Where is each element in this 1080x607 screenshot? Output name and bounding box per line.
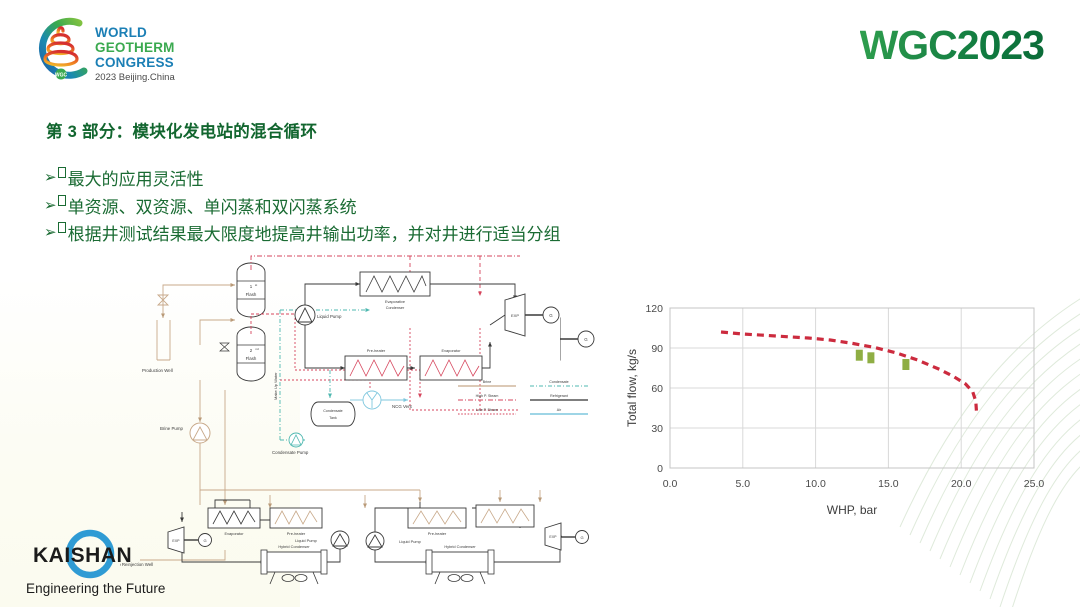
flash2-label-b: Flash [246, 356, 257, 361]
chart-marker [902, 359, 909, 370]
list-item-label: 单资源、双资源、单闪蒸和双闪蒸系统 [68, 194, 357, 222]
bullet-arrow-icon: ➢ [44, 221, 57, 245]
wgc-logo-badge-text: WGC [55, 73, 68, 79]
diagram-label-preheater-3: Pre-heater [428, 531, 447, 536]
process-flow-diagram: Production Well 1 st Flash 2 nd Flash Br… [120, 250, 600, 585]
evaporative-condenser: Evaporative Condenser [360, 272, 430, 310]
chart-line-deliverability-curve [721, 332, 977, 412]
chart-y-tick: 0 [657, 463, 663, 475]
list-item-label: 最大的应用灵活性 [68, 166, 204, 194]
diagram-label-liquid-pump-3: Liquid Pump [399, 539, 421, 544]
diagram-label-ncg-vent: NCG Vent [392, 404, 413, 409]
diagram-label-gen-4: G [203, 538, 206, 543]
pre-heater-bottom-right: Pre-heater [408, 508, 466, 536]
flash-vessel-2: 2 nd Flash [237, 327, 265, 381]
flash1-label-sup: st [255, 283, 258, 287]
valve-icon-2 [220, 343, 229, 351]
chart-x-tick: 15.0 [878, 478, 899, 490]
flash2-label-sup: nd [255, 347, 259, 351]
kaishan-wordmark: KAISHAN [33, 544, 132, 568]
evaporator-bottom-left: Evaporator [208, 508, 260, 536]
legend-label-air: Air [557, 408, 562, 412]
diagram-label-liquid-pump-1: Liquid Pump [317, 314, 342, 319]
chart-y-axis-title: Total flow, kg/s [625, 349, 639, 427]
chart-x-axis-title: WHP, bar [827, 503, 877, 517]
wgc-congress-logo: WGC WORLD GEOTHERMAL CONGRESS 2023 Beiji… [25, 14, 175, 86]
chart-y-tick: 120 [645, 303, 663, 315]
diagram-label-brine-pump: Brine Pump [160, 426, 183, 431]
list-item: ➢ 单资源、双资源、单闪蒸和双闪蒸系统 [44, 194, 561, 222]
diagram-label-hybrid-condenser-2: Hybrid Condenser [444, 544, 476, 549]
diagram-label-production-well: Production Well [142, 368, 173, 373]
wgc-logo-line2: GEOTHERMAL [95, 40, 175, 55]
diagram-label-hybrid-condenser-1: Hybrid Condenser [278, 544, 310, 549]
bullet-arrow-icon: ➢ [44, 194, 57, 218]
diagram-label-gen-1: G [549, 313, 553, 318]
wgc-logo-line4: 2023 Beijing.China [95, 72, 175, 83]
legend-label-low-p-steam: Low P. Steam [476, 408, 498, 412]
condensate-tank: Condensate Tank [311, 402, 355, 426]
diagram-label-condensate-tank-b: Tank [329, 416, 337, 420]
turbine-group-top: EXP G [505, 294, 559, 336]
wgc-logo-line1: WORLD [95, 25, 147, 40]
bullet-arrow-icon: ➢ [44, 166, 57, 190]
turbine-bottom-left: EXP G [168, 527, 212, 553]
legend-label-high-p-steam: High P. Steam [476, 394, 499, 398]
diagram-label-preheater-2: Pre-heater [287, 531, 306, 536]
chart-y-tick: 30 [651, 423, 663, 435]
page-title: 第 3 部分：模块化发电站的混合循环 [46, 118, 317, 142]
diagram-label-exp-4: EXP [172, 539, 180, 543]
condensate-pump: Condensate Pump [272, 433, 309, 455]
ncg-vent-fan: NCG Vent [350, 391, 413, 409]
process-flow-diagram-svg: Production Well 1 st Flash 2 nd Flash Br… [120, 250, 600, 585]
diagram-label-gen-5: G [580, 535, 583, 540]
wgc-logo-icon: WGC WORLD GEOTHERMAL CONGRESS 2023 Beiji… [25, 14, 175, 86]
chart-y-tick: 60 [651, 383, 663, 395]
evaporator-bottom-right [476, 505, 534, 527]
diagram-label-makeup-water: Make Up Water [273, 372, 278, 400]
chart-x-tick: 25.0 [1024, 478, 1045, 490]
legend-label-brine: Brine [483, 380, 491, 384]
chart-x-tick-labels: 0.05.010.015.020.025.0 [663, 478, 1045, 490]
diagram-label-exp-1: EXP [511, 313, 519, 318]
chart-marker [867, 352, 874, 363]
diagram-label-evaporator-1: Evaporator [441, 348, 461, 353]
chart-x-tick: 0.0 [663, 478, 678, 490]
list-item-label: 根据井测试结果最大限度地提高井输出功率，并对井进行适当分组 [68, 221, 561, 249]
list-item: ➢ 根据井测试结果最大限度地提高井输出功率，并对井进行适当分组 [44, 221, 561, 249]
missing-glyph-box-icon [58, 222, 66, 233]
diagram-label-gen-3: G [584, 337, 588, 342]
kaishan-logo: KAISHAN Engineering the Future [20, 528, 170, 598]
flash1-label-b: Flash [246, 292, 257, 297]
wgc2023-brand: WGC2023 [860, 22, 1044, 69]
missing-glyph-box-icon [58, 167, 66, 178]
hybrid-condenser-right: Hybrid Condenser [426, 544, 494, 584]
chart-marker [856, 350, 863, 361]
chart-y-tick: 90 [651, 343, 663, 355]
chart-x-tick: 10.0 [805, 478, 826, 490]
diagram-label-liquid-pump-2: Liquid Pump [295, 538, 317, 543]
diagram-label-preheater-1: Pre-heater [367, 348, 386, 353]
pre-heater-top: Pre-heater [345, 348, 407, 380]
missing-glyph-box-icon [58, 195, 66, 206]
evaporator-top: Evaporator [420, 348, 482, 380]
diagram-label-evap-cond-b: Condenser [386, 306, 405, 310]
diagram-label-exp-5: EXP [549, 535, 557, 539]
chart-x-tick: 5.0 [735, 478, 750, 490]
pre-heater-bottom-left: Pre-heater [270, 508, 322, 536]
brine-pump: Brine Pump [160, 423, 210, 443]
diagram-label-evap-cond-a: Evaporative [385, 300, 405, 304]
chart-x-tick: 20.0 [951, 478, 972, 490]
chart-y-tick-labels: 0306090120 [645, 303, 663, 475]
chart-series-group [721, 332, 977, 412]
hybrid-condenser-left: Hybrid Condenser [261, 544, 327, 584]
deliverability-chart: 0306090120 0.05.010.015.020.025.0 Total … [622, 286, 1052, 521]
wgc-logo-line3: CONGRESS [95, 55, 174, 70]
flash-vessel-1: 1 st Flash [237, 263, 265, 317]
bullet-list: ➢ 最大的应用灵活性 ➢ 单资源、双资源、单闪蒸和双闪蒸系统 ➢ 根据井测试结果… [44, 166, 561, 249]
diagram-label-condensate-tank-a: Condensate [323, 409, 342, 413]
kaishan-tagline: Engineering the Future [26, 581, 166, 596]
list-item: ➢ 最大的应用灵活性 [44, 166, 561, 194]
liquid-pump-top: Liquid Pump [295, 305, 342, 325]
diagram-label-condensate-pump: Condensate Pump [272, 450, 309, 455]
turbine-bottom-right: EXP G [545, 523, 589, 550]
deliverability-chart-svg: 0306090120 0.05.010.015.020.025.0 Total … [622, 286, 1052, 521]
diagram-label-evaporator-2: Evaporator [224, 531, 244, 536]
liquid-pump-bottom-right: Liquid Pump [366, 532, 421, 550]
